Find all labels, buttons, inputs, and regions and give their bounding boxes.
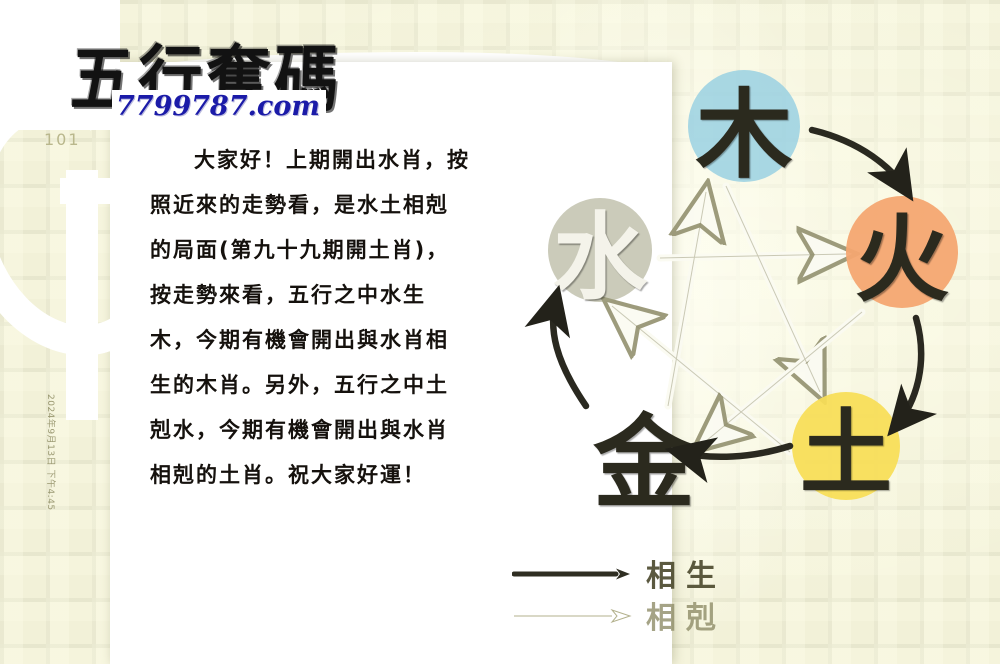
page-number: 101 <box>44 130 81 149</box>
diagram-legend: 相生 相剋 <box>512 552 726 636</box>
timestamp-watermark: 2024年9月13日 下午4:45 <box>45 394 58 584</box>
article-line: 相剋的土肖。祝大家好運！ <box>150 453 530 498</box>
element-label-water: 水 <box>553 182 647 319</box>
article-line: 大家好！上期開出水肖，按 <box>150 138 530 183</box>
logo-swoosh-bar <box>60 178 136 204</box>
page-canvas: 水 木 火 土 金 101 2024年9月13日 下午4:45 五行奪碼 779… <box>0 0 1000 664</box>
legend-arrow-ke <box>512 608 632 622</box>
element-circle-fire: 火 <box>846 196 958 308</box>
article-line: 剋水，今期有機會開出與水肖 <box>150 408 530 453</box>
element-label-metal: 金 <box>593 380 694 528</box>
element-label-fire: 火 <box>855 184 949 321</box>
element-circle-earth: 土 <box>792 392 900 500</box>
article-line: 木，今期有機會開出與水肖相 <box>150 318 530 363</box>
article-line: 按走勢來看，五行之中水生 <box>150 273 530 318</box>
legend-row-ke: 相剋 <box>512 594 726 636</box>
element-label-earth: 土 <box>800 380 892 512</box>
legend-label-sheng: 相生 <box>646 551 726 595</box>
legend-label-ke: 相剋 <box>646 593 726 637</box>
article-line: 照近來的走勢看，是水土相剋 <box>150 183 530 228</box>
logo-swoosh-tail <box>66 170 98 420</box>
element-circle-water: 水 <box>548 198 652 302</box>
element-label-wood: 木 <box>696 56 793 196</box>
legend-row-sheng: 相生 <box>512 552 726 594</box>
domain-ribbon: 7799787.com <box>112 90 326 124</box>
site-domain[interactable]: 7799787.com <box>116 91 320 122</box>
element-circle-wood: 木 <box>688 70 800 182</box>
article-line: 的局面(第九十九期開土肖)， <box>150 228 530 273</box>
element-circle-metal: 金 <box>590 400 698 508</box>
article-body: 大家好！上期開出水肖，按 照近來的走勢看，是水土相剋 的局面(第九十九期開土肖)… <box>150 138 530 498</box>
article-line: 生的木肖。另外，五行之中土 <box>150 363 530 408</box>
legend-arrow-sheng <box>512 566 632 580</box>
